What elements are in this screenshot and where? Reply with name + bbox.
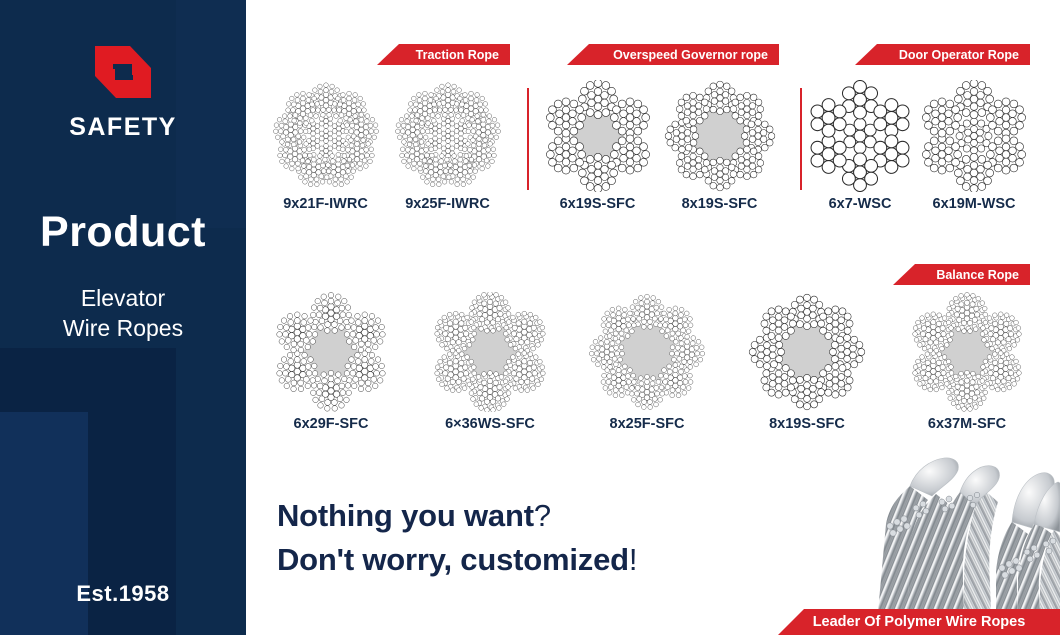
rope-caption: 9x21F-IWRC [268, 196, 383, 212]
rope-diagram-tile: 8x25F-SFC [588, 292, 706, 432]
rope-caption: 9x25F-IWRC [390, 196, 505, 212]
headline-question-mark: ? [534, 498, 551, 533]
safety-s-logo-icon [93, 42, 153, 102]
rope-diagram-tile: 6x19S-SFC [540, 80, 655, 212]
category-banner-balance: Balance Rope [893, 264, 1030, 285]
rope-caption: 8x25F-SFC [588, 416, 706, 432]
rope-diagram-tile: 9x21F-IWRC [268, 80, 383, 212]
product-subtitle-line: Wire Ropes [0, 313, 246, 343]
category-banner-overspeed: Overspeed Governor rope [567, 44, 779, 65]
rope-cross-section-9x21F-IWRC [268, 80, 383, 192]
headline-line-1-text: Nothing you want [277, 498, 534, 533]
rope-cross-section-9x25F-IWRC [390, 80, 505, 192]
rope-cross-section-6x19M-WSC [915, 80, 1033, 192]
brand-name: SAFETY [0, 113, 246, 142]
rope-caption: 6x19M-WSC [915, 196, 1033, 212]
brand-panel: SAFETY Product ElevatorWire Ropes Est.19… [0, 0, 246, 635]
rope-diagram-tile: 6x19M-WSC [915, 80, 1033, 212]
rope-diagram-tile: 8x19S-SFC [748, 292, 866, 432]
rope-cross-section-6x29F-SFC [272, 292, 390, 412]
headline-line-1: Nothing you want? [277, 494, 637, 538]
page-title: Product [0, 208, 246, 257]
footer-tagline-banner: Leader Of Polymer Wire Ropes [778, 609, 1060, 635]
rope-cross-section-6x7-WSC [805, 80, 915, 192]
product-subtitle: ElevatorWire Ropes [0, 283, 246, 343]
established-year: Est.1958 [0, 581, 246, 607]
headline-line-2: Don't worry, customized! [277, 538, 637, 582]
rope-diagram-tile: 6x37M-SFC [908, 292, 1026, 432]
headline-line-2-text: Don't worry, customized [277, 542, 629, 577]
category-banner-door: Door Operator Rope [855, 44, 1030, 65]
rope-cross-section-8x19S-SFC [748, 292, 866, 412]
rope-caption: 6x7-WSC [805, 196, 915, 212]
product-subtitle-line: Elevator [0, 283, 246, 313]
rope-caption: 8x19S-SFC [662, 196, 777, 212]
rope-diagram-tile: 6x29F-SFC [272, 292, 390, 432]
product-infographic: SAFETY Product ElevatorWire Ropes Est.19… [0, 0, 1060, 635]
rope-caption: 6×36WS-SFC [428, 416, 552, 432]
rope-cross-section-8x19S-SFC [662, 80, 777, 192]
group-divider [527, 88, 529, 190]
rope-caption: 6x19S-SFC [540, 196, 655, 212]
rope-caption: 6x29F-SFC [272, 416, 390, 432]
rope-caption: 6x37M-SFC [908, 416, 1026, 432]
rope-cross-section-6×36WS-SFC [428, 292, 552, 412]
rope-cross-section-6x37M-SFC [908, 292, 1026, 412]
rope-diagram-tile: 8x19S-SFC [662, 80, 777, 212]
rope-cross-section-6x19S-SFC [540, 80, 655, 192]
headline-block: Nothing you want? Don't worry, customize… [277, 494, 637, 582]
category-banner-traction: Traction Rope [377, 44, 510, 65]
headline-exclamation-mark: ! [629, 542, 637, 577]
rope-diagram-tile: 6×36WS-SFC [428, 292, 552, 432]
rope-cross-section-8x25F-SFC [588, 292, 706, 412]
rope-diagram-tile: 9x25F-IWRC [390, 80, 505, 212]
rope-diagram-tile: 6x7-WSC [805, 80, 915, 212]
group-divider [800, 88, 802, 190]
wire-rope-photo [846, 452, 1060, 614]
rope-caption: 8x19S-SFC [748, 416, 866, 432]
